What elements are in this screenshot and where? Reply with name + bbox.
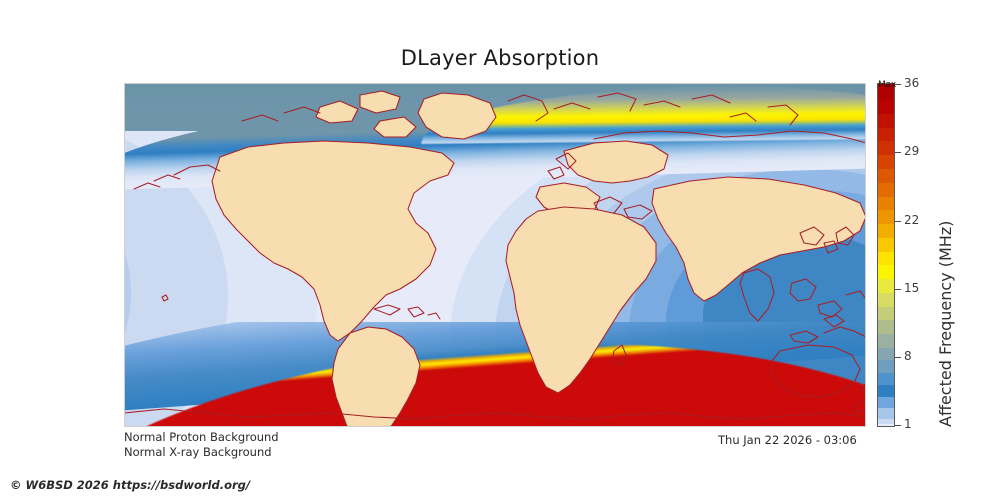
- figure-canvas: DLayer Absorption: [0, 0, 1000, 500]
- colorbar-tick-15: [895, 289, 901, 290]
- colorbar[interactable]: [877, 83, 895, 427]
- proton-background-status: Normal Proton Background: [124, 430, 279, 444]
- colorbar-tick-22: [895, 221, 901, 222]
- coastline-overlay: [124, 83, 866, 427]
- colorbar-tick-36: [895, 84, 901, 85]
- colorbar-tick-1: [895, 425, 901, 426]
- colorbar-tick-29: [895, 152, 901, 153]
- colorbar-ticklabel-29: 29: [904, 144, 919, 158]
- colorbar-axis-label: Affected Frequency (MHz): [936, 221, 955, 427]
- colorbar-tick-8: [895, 357, 901, 358]
- colorbar-axis-label-wrap: Affected Frequency (MHz): [936, 83, 958, 427]
- colorbar-ticklabel-1: 1: [904, 417, 912, 431]
- xray-background-status: Normal X-ray Background: [124, 445, 272, 459]
- colorbar-ticklabel-36: 36: [904, 76, 919, 90]
- colorbar-ticklabel-8: 8: [904, 349, 912, 363]
- timestamp-label: Thu Jan 22 2026 - 03:06: [718, 433, 857, 447]
- credit-label: © W6BSD 2026 https://bsdworld.org/: [10, 478, 250, 492]
- map-plot-area[interactable]: [124, 83, 866, 427]
- colorbar-ticklabel-15: 15: [904, 281, 919, 295]
- colorbar-max-label: Max: [878, 80, 896, 91]
- page-title: DLayer Absorption: [0, 46, 1000, 70]
- colorbar-ticklabel-22: 22: [904, 213, 919, 227]
